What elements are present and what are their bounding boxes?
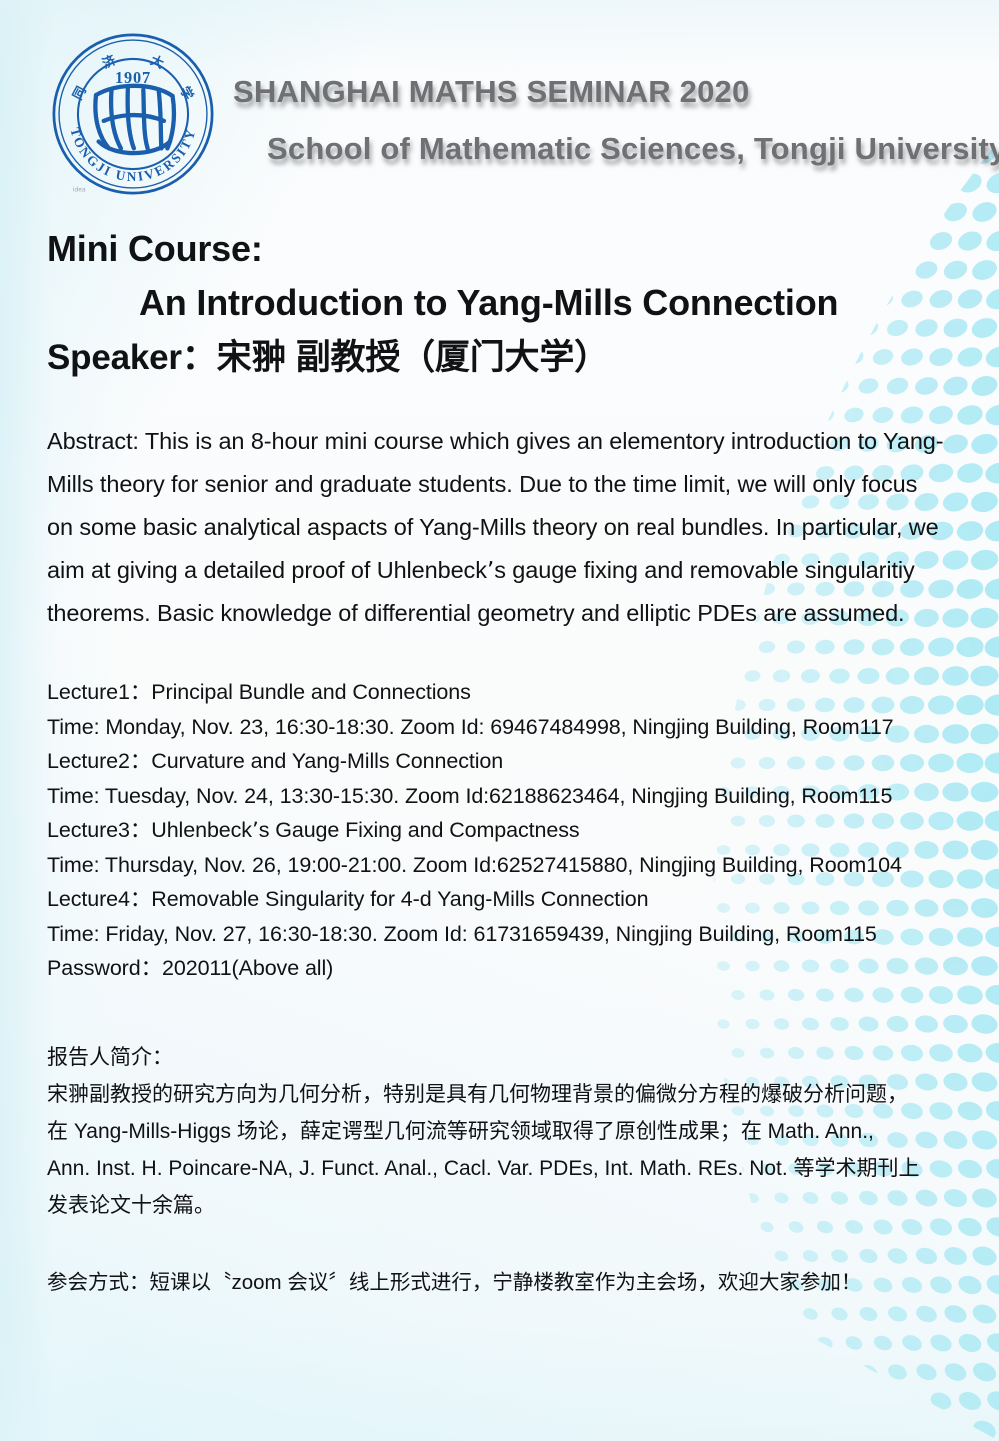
course-name: An Introduction to Yang-Mills Connection [47, 276, 959, 330]
svg-text:学: 学 [176, 84, 196, 103]
lecture-title: Lecture4：Removable Singularity for 4-d Y… [47, 882, 959, 917]
tongji-university-seal-icon: 1907 同 济 大 学 TONGJI UNIVERSITY idea [47, 28, 219, 200]
mini-course-label: Mini Course: [47, 222, 959, 276]
lecture-title: Lecture2：Curvature and Yang-Mills Connec… [47, 744, 959, 779]
participation-note: 参会方式：短课以〝zoom 会议〞线上形式进行，宁静楼教室作为主会场，欢迎大家参… [47, 1266, 959, 1300]
svg-text:同: 同 [70, 84, 89, 103]
lecture-title: Lecture1：Principal Bundle and Connection… [47, 675, 959, 710]
svg-text:idea: idea [73, 186, 86, 193]
lecture-time: Time: Friday, Nov. 27, 16:30-18:30. Zoom… [47, 917, 959, 952]
speaker-bio: 报告人简介： 宋翀副教授的研究方向为几何分析，特别是具有几何物理背景的偏微分方程… [47, 1040, 959, 1224]
poster-header: 1907 同 济 大 学 TONGJI UNIVERSITY idea SHAN… [0, 0, 999, 200]
header-title-block: SHANGHAI MATHS SEMINAR 2020 School of Ma… [233, 72, 993, 170]
poster-body: Mini Course: An Introduction to Yang-Mil… [47, 222, 959, 1300]
bio-heading: 报告人简介： [47, 1040, 959, 1076]
abstract-paragraph: Abstract: This is an 8-hour mini course … [47, 420, 947, 635]
lecture-time: Time: Tuesday, Nov. 24, 13:30-15:30. Zoo… [47, 779, 959, 814]
lecture-time: Time: Thursday, Nov. 26, 19:00-21:00. Zo… [47, 848, 959, 883]
lecture-time: Time: Monday, Nov. 23, 16:30-18:30. Zoom… [47, 710, 959, 745]
lecture-schedule: Lecture1：Principal Bundle and Connection… [47, 675, 959, 986]
seminar-poster: 1907 同 济 大 学 TONGJI UNIVERSITY idea SHAN… [0, 0, 999, 1441]
seminar-subtitle: School of Mathematic Sciences, Tongji Un… [267, 128, 993, 170]
bio-line: 发表论文十余篇。 [47, 1187, 959, 1224]
seminar-title: SHANGHAI MATHS SEMINAR 2020 [233, 72, 993, 112]
bio-line: 宋翀副教授的研究方向为几何分析，特别是具有几何物理背景的偏微分方程的爆破分析问题… [47, 1076, 959, 1113]
bio-line: 在 Yang-Mills-Higgs 场论，薛定谔型几何流等研究领域取得了原创性… [47, 1113, 959, 1150]
background-bottom-tint [0, 1321, 999, 1441]
speaker-line: Speaker：宋翀 副教授（厦门大学） [47, 330, 959, 386]
lecture-title: Lecture3：Uhlenbeck՚s Gauge Fixing and Co… [47, 813, 959, 848]
bio-line: Ann. Inst. H. Poincare-NA, J. Funct. Ana… [47, 1150, 959, 1187]
svg-text:1907: 1907 [115, 68, 151, 87]
course-title-block: Mini Course: An Introduction to Yang-Mil… [47, 222, 959, 386]
zoom-password: Password：202011(Above all) [47, 951, 959, 986]
